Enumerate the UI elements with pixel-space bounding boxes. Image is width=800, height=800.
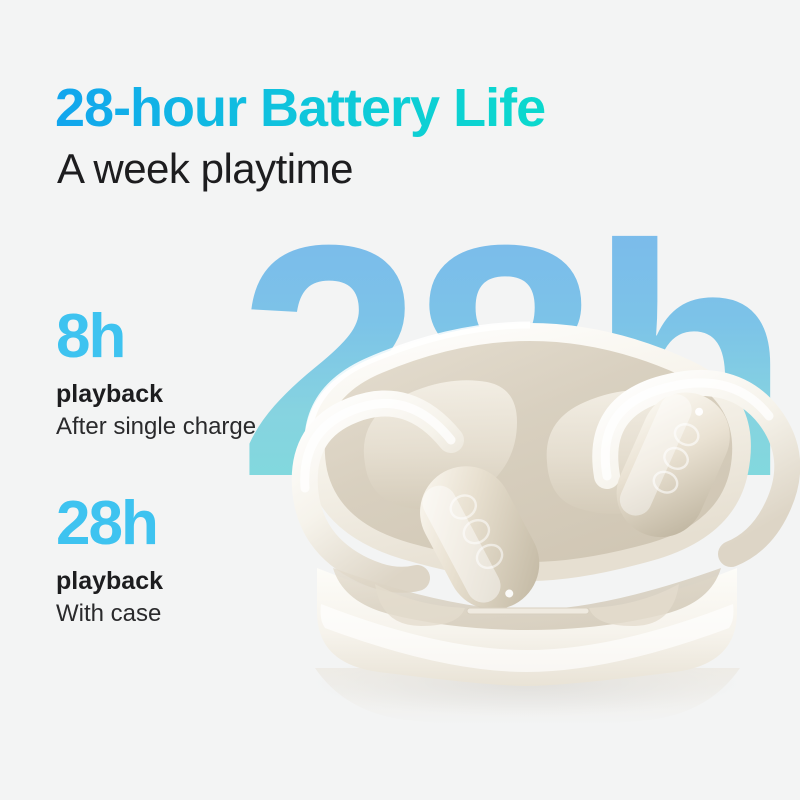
case-hinge (467, 608, 589, 614)
stat-note-with-case: With case (56, 600, 163, 629)
page-subtitle: A week playtime (57, 146, 353, 192)
stat-unit-playback-28h: playback (56, 567, 163, 597)
stat-value-28h: 28h (56, 493, 163, 555)
stat-note-after-single-charge: After single charge (56, 413, 256, 442)
stat-unit-playback-8h: playback (56, 380, 256, 410)
stat-value-8h: 8h (56, 306, 256, 368)
stat-block-with-case: 28h playback With case (56, 493, 163, 628)
battery-life-promo-poster: 28h (0, 0, 800, 800)
page-title: 28-hour Battery Life (55, 80, 545, 137)
stat-block-single-charge: 8h playback After single charge (56, 306, 256, 441)
product-image (255, 268, 800, 723)
